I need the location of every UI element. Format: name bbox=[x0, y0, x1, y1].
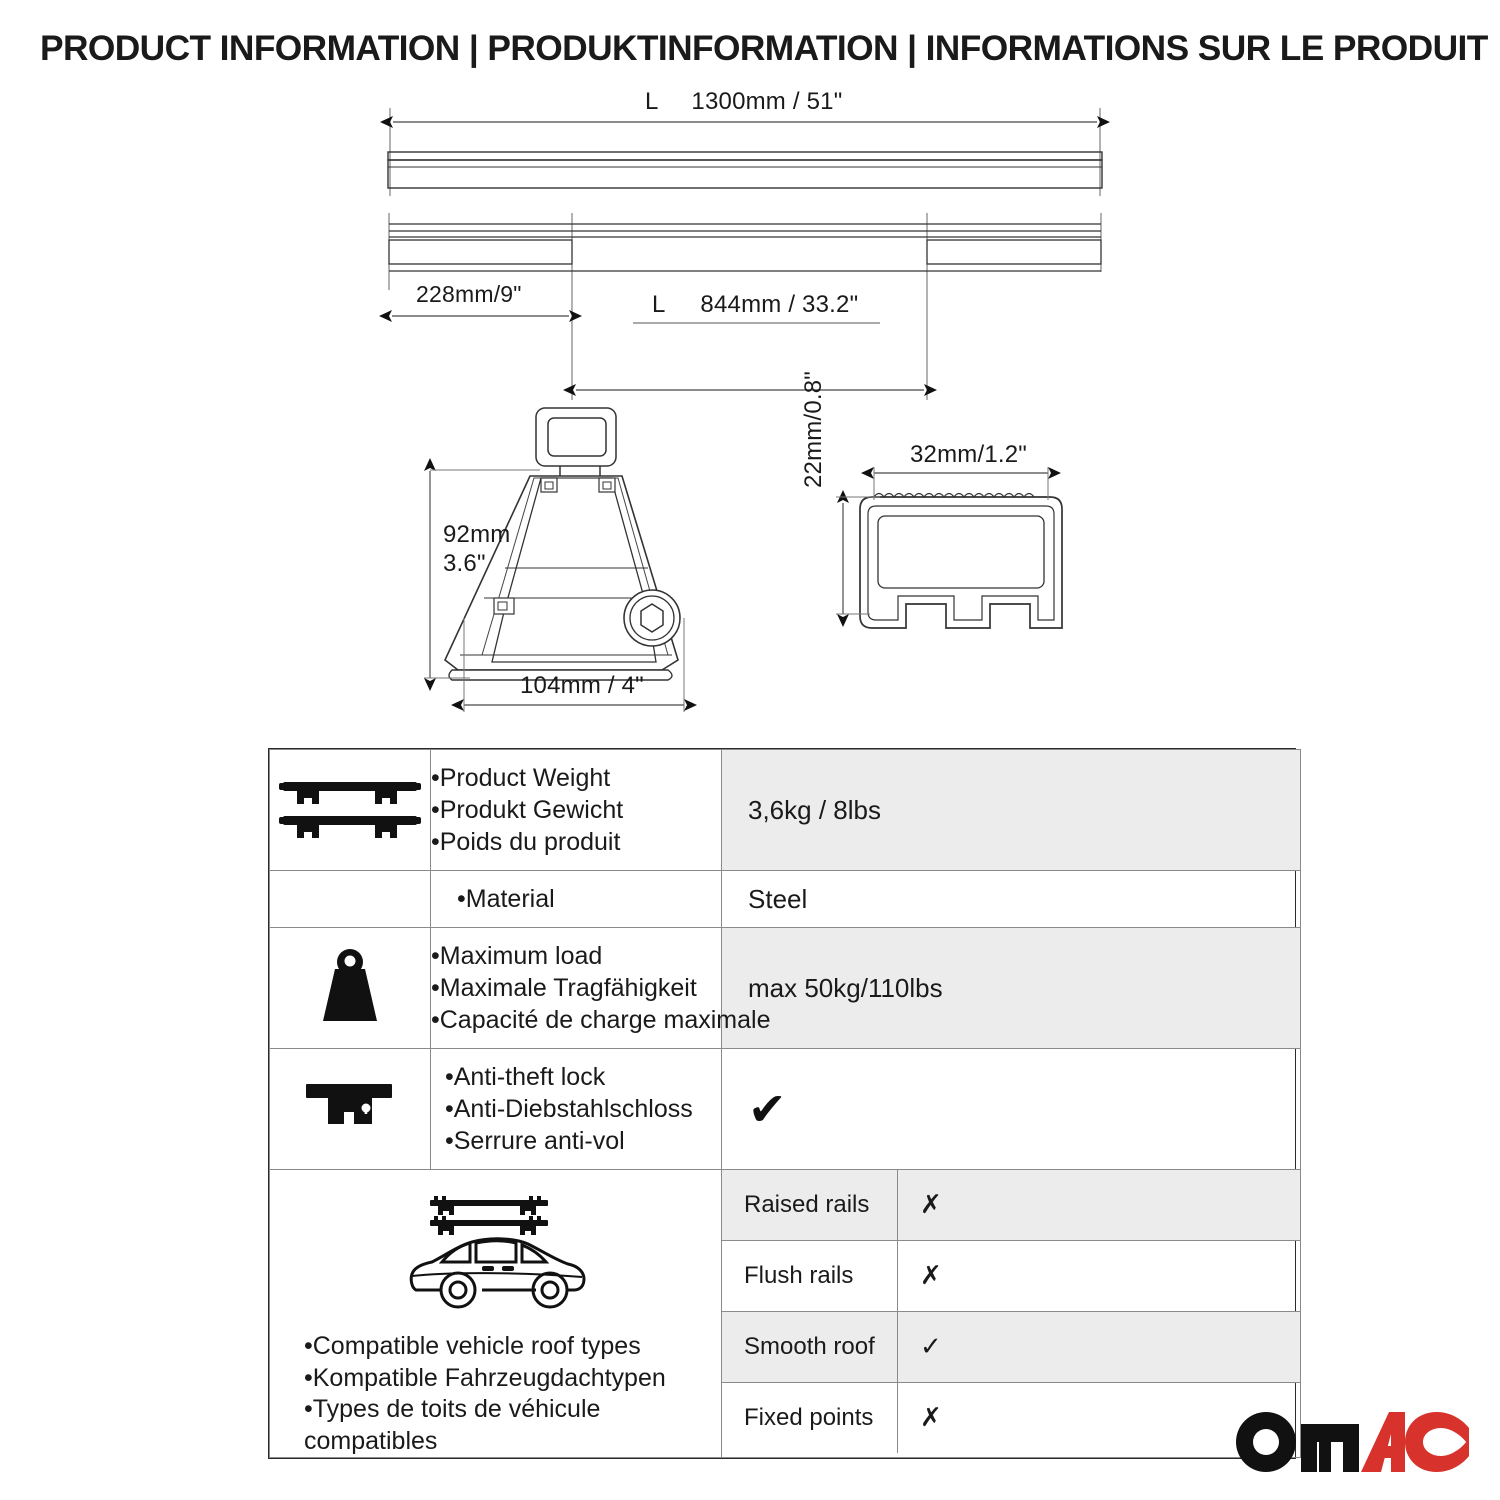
cell-value-material: Steel bbox=[722, 871, 1301, 928]
dimension-label-profile-width: 32mm/1.2" bbox=[910, 441, 1027, 469]
lock-bar-icon bbox=[302, 1076, 398, 1138]
dimension-label-foot-height: 92mm 3.6" bbox=[443, 520, 510, 579]
label-max-load-en: •Maximum load bbox=[431, 940, 717, 972]
roof-type-mark-flush-rails: ✗ bbox=[898, 1241, 1301, 1312]
dimension-label-foot-offset: 228mm/9" bbox=[416, 281, 522, 308]
cell-icon-material bbox=[270, 871, 431, 928]
cell-value-product-weight: 3,6kg / 8lbs bbox=[722, 750, 1301, 871]
roof-type-mark-smooth-roof: ✓ bbox=[898, 1312, 1301, 1383]
profile-cross-section bbox=[860, 494, 1062, 629]
bar-front-view bbox=[388, 108, 1102, 196]
roof-type-mark-raised-rails: ✗ bbox=[898, 1170, 1301, 1241]
cell-label-anti-theft-lock: •Anti-theft lock •Anti-Diebstahlschloss … bbox=[431, 1049, 722, 1170]
label-compat-de: •Kompatible Fahrzeugdachtypen bbox=[304, 1363, 711, 1395]
roof-type-name-fixed-points: Fixed points bbox=[722, 1383, 898, 1454]
value-product-weight: 3,6kg / 8lbs bbox=[722, 795, 1300, 826]
cell-label-maximum-load: •Maximum load •Maximale Tragfähigkeit •C… bbox=[431, 928, 722, 1049]
weight-icon bbox=[307, 945, 393, 1027]
roof-type-name-raised-rails: Raised rails bbox=[722, 1170, 898, 1241]
roof-type-name-smooth-roof: Smooth roof bbox=[722, 1312, 898, 1383]
label-compat-fr: •Types de toits de véhicule bbox=[304, 1394, 711, 1426]
foot-height-in: 3.6" bbox=[443, 549, 510, 578]
label-product-weight-fr: •Poids du produit bbox=[431, 826, 717, 858]
cell-icon-lock bbox=[270, 1049, 431, 1170]
cell-icon-roof-bars bbox=[270, 750, 431, 871]
label-anti-theft-de: •Anti-Diebstahlschloss bbox=[445, 1093, 717, 1125]
cell-label-material: •Material bbox=[431, 871, 722, 928]
roof-type-row-smooth-roof: Smooth roof ✓ bbox=[722, 1312, 1300, 1383]
cell-roof-type-list: Raised rails ✗ Flush rails ✗ Smooth roof… bbox=[722, 1170, 1301, 1458]
label-material: •Material bbox=[457, 883, 717, 915]
cell-label-product-weight: •Product Weight •Produkt Gewicht •Poids … bbox=[431, 750, 722, 871]
page-title: PRODUCT INFORMATION | PRODUKTINFORMATION… bbox=[40, 28, 1458, 69]
car-with-roof-rack-icon bbox=[398, 1184, 594, 1320]
roof-bars-icon bbox=[275, 774, 425, 846]
label-compat-en: •Compatible vehicle roof types bbox=[304, 1331, 711, 1363]
roof-type-name-flush-rails: Flush rails bbox=[722, 1241, 898, 1312]
label-product-weight-de: •Produkt Gewicht bbox=[431, 794, 717, 826]
dimension-label-profile-height: 22mm/0.8" bbox=[800, 458, 828, 488]
dimension-profile-height bbox=[836, 497, 880, 614]
dimension-profile-width bbox=[874, 467, 1048, 500]
logo-letter-a bbox=[1361, 1412, 1405, 1472]
cell-value-maximum-load: max 50kg/110lbs bbox=[722, 928, 1301, 1049]
table-row-anti-theft-lock: •Anti-theft lock •Anti-Diebstahlschloss … bbox=[270, 1049, 1301, 1170]
dimension-label-foot-width: 104mm / 4" bbox=[520, 672, 644, 700]
dimension-label-span: L 844mm / 33.2" bbox=[652, 291, 858, 319]
label-anti-theft-fr: •Serrure anti-vol bbox=[445, 1125, 717, 1157]
logo-letter-c bbox=[1405, 1412, 1469, 1472]
product-information-page: PRODUCT INFORMATION | PRODUKTINFORMATION… bbox=[0, 0, 1500, 1500]
label-product-weight-en: •Product Weight bbox=[431, 762, 717, 794]
cell-value-anti-theft-lock: ✔ bbox=[722, 1049, 1301, 1170]
cell-compatibility-description: •Compatible vehicle roof types •Kompatib… bbox=[270, 1170, 722, 1458]
label-max-load-de: •Maximale Tragfähigkeit bbox=[431, 972, 717, 1004]
table-row-compatibility: •Compatible vehicle roof types •Kompatib… bbox=[270, 1170, 1301, 1458]
dimension-span bbox=[576, 323, 924, 390]
roof-type-row-flush-rails: Flush rails ✗ bbox=[722, 1241, 1300, 1312]
compat-icon-container bbox=[270, 1170, 721, 1325]
compatibility-labels: •Compatible vehicle roof types •Kompatib… bbox=[270, 1325, 721, 1457]
roof-type-row-raised-rails: Raised rails ✗ bbox=[722, 1170, 1300, 1241]
label-max-load-fr: •Capacité de charge maximale bbox=[431, 1004, 717, 1036]
omac-logo bbox=[1233, 1398, 1473, 1478]
foot-height-mm: 92mm bbox=[443, 520, 510, 549]
roof-type-table: Raised rails ✗ Flush rails ✗ Smooth roof… bbox=[722, 1170, 1300, 1453]
dimension-label-bar-length: L 1300mm / 51" bbox=[645, 88, 842, 116]
value-material: Steel bbox=[722, 884, 1300, 915]
anti-theft-check-icon: ✔ bbox=[722, 1086, 1300, 1132]
value-maximum-load: max 50kg/110lbs bbox=[722, 973, 1300, 1004]
cell-icon-weight bbox=[270, 928, 431, 1049]
label-anti-theft-en: •Anti-theft lock bbox=[445, 1061, 717, 1093]
specification-table: •Product Weight •Produkt Gewicht •Poids … bbox=[268, 748, 1296, 1459]
table-row-maximum-load: •Maximum load •Maximale Tragfähigkeit •C… bbox=[270, 928, 1301, 1049]
roof-type-row-fixed-points: Fixed points ✗ bbox=[722, 1383, 1300, 1454]
table-row-material: •Material Steel bbox=[270, 871, 1301, 928]
table-row-product-weight: •Product Weight •Produkt Gewicht •Poids … bbox=[270, 750, 1301, 871]
logo-letter-m bbox=[1301, 1424, 1359, 1472]
label-compat-fr-cont: compatibles bbox=[304, 1426, 711, 1458]
